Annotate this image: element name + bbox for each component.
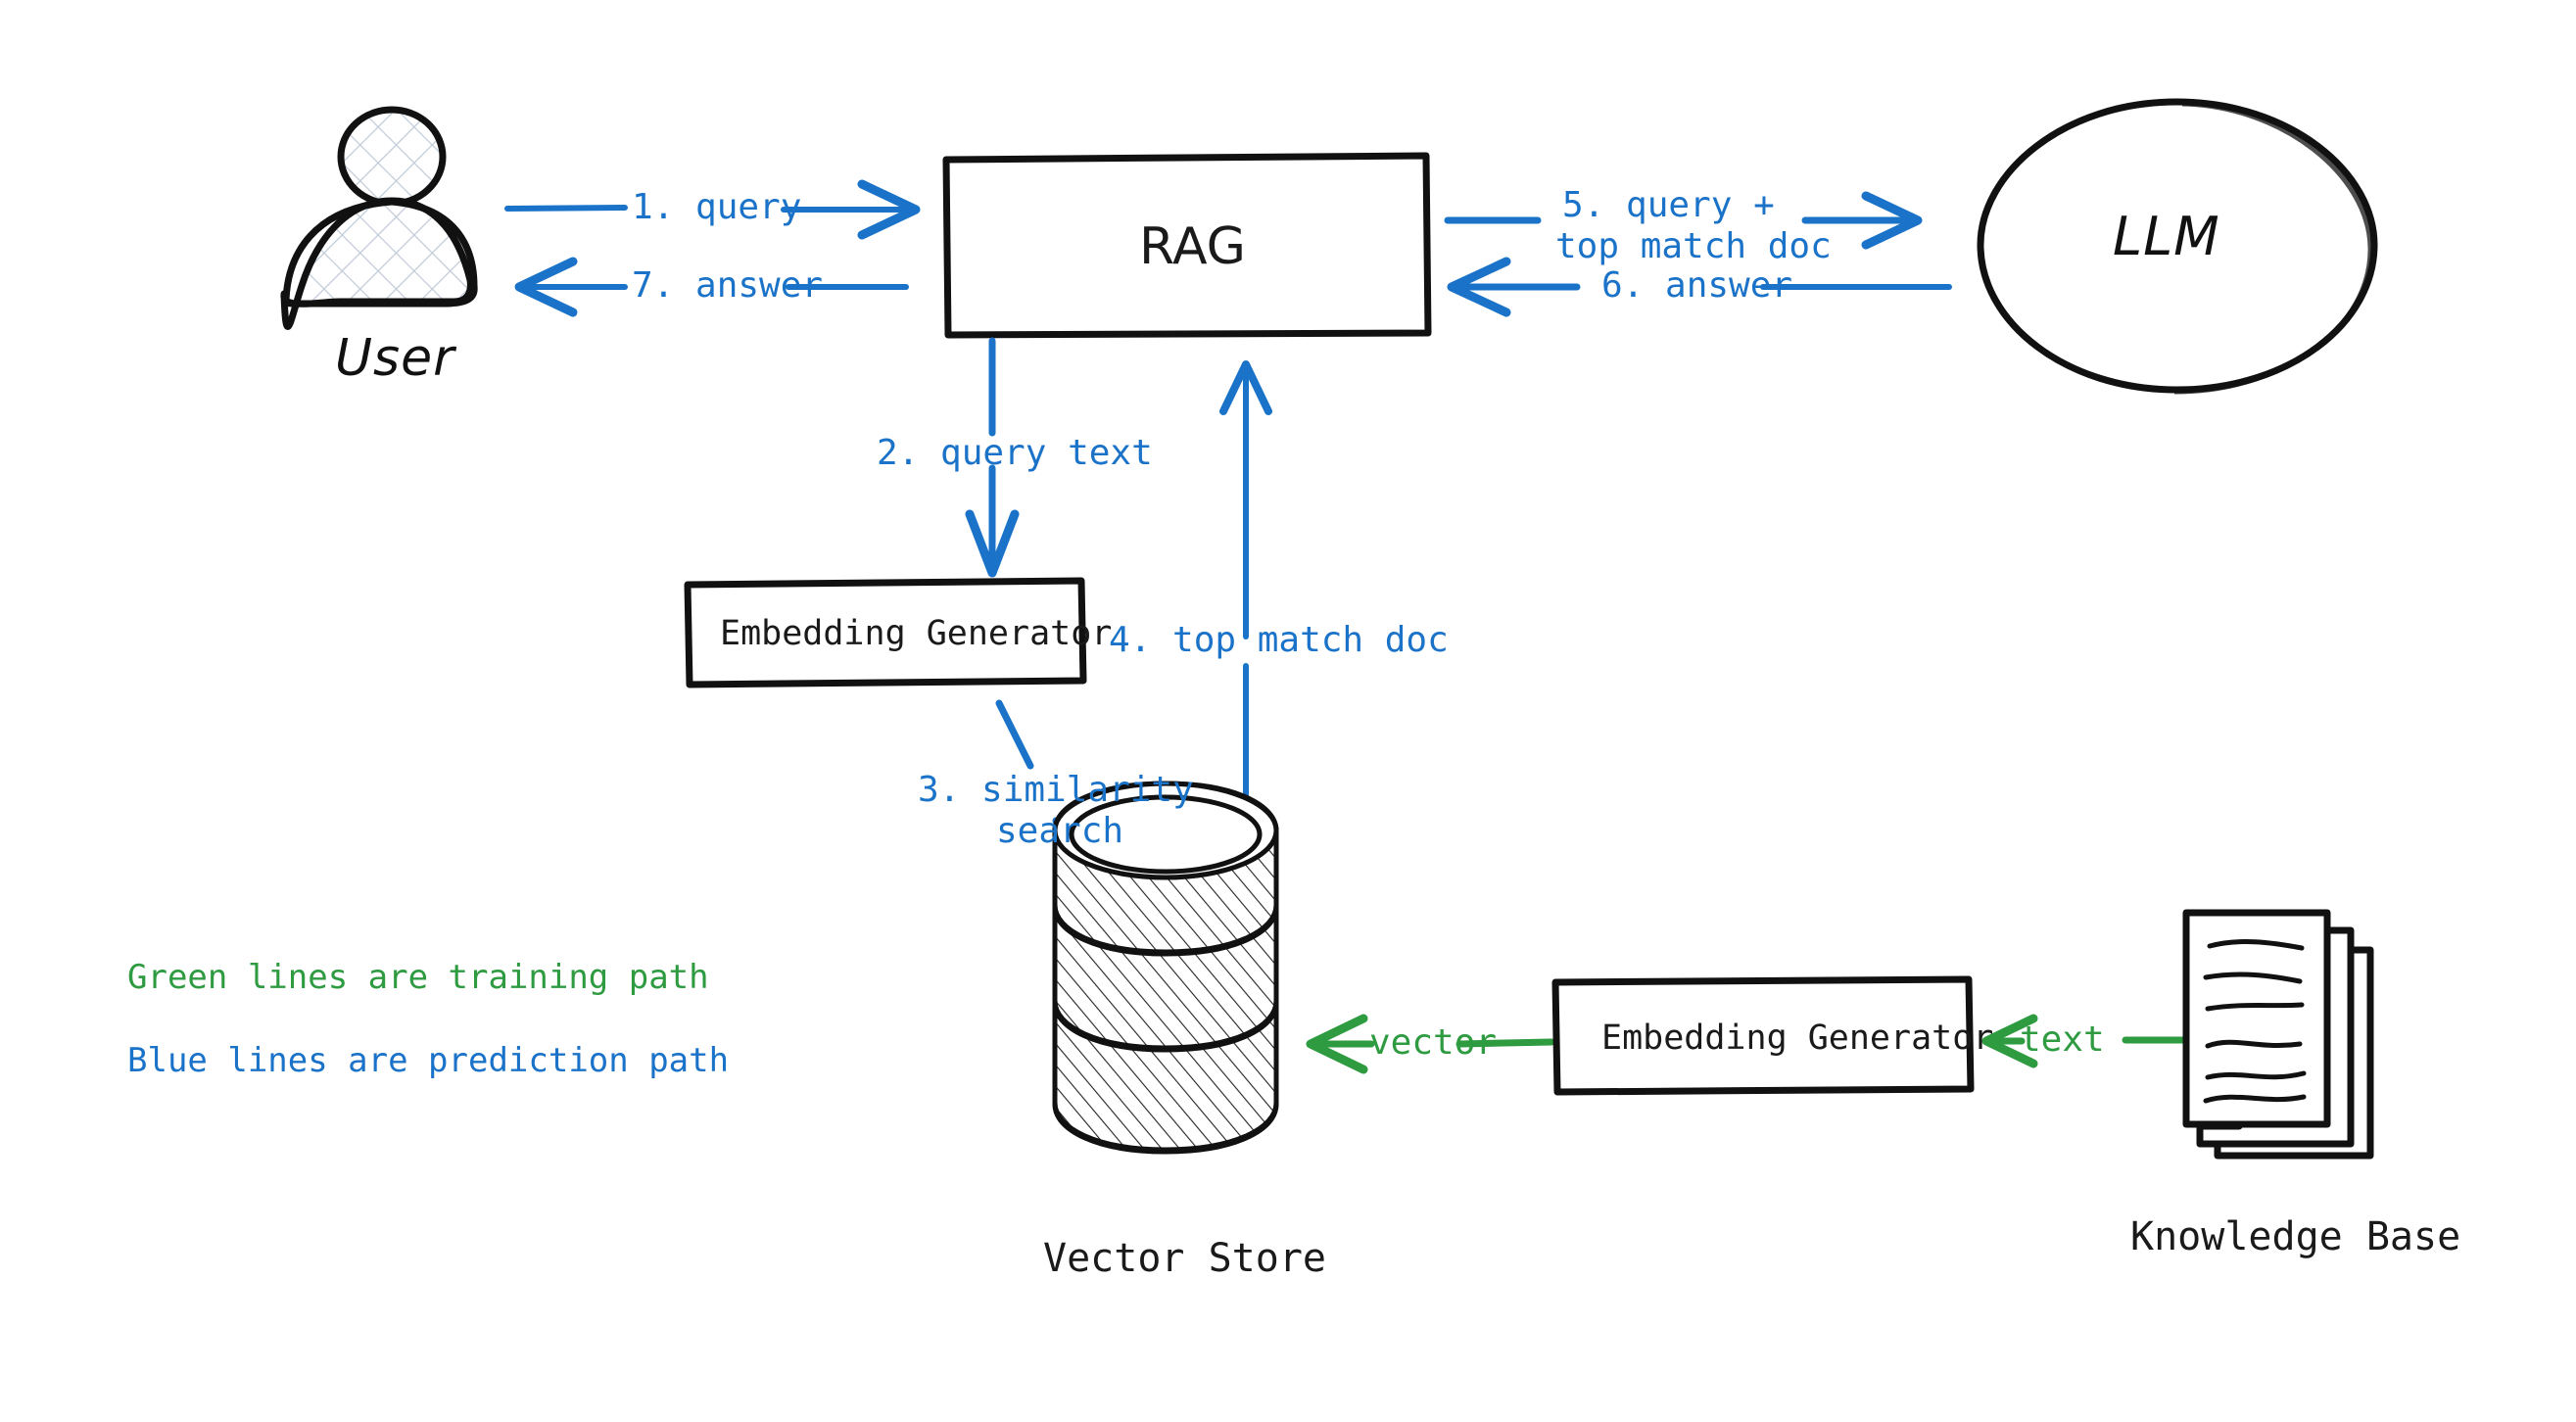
edge-label-text: text xyxy=(2020,1019,2105,1061)
legend-item-prediction: Blue lines are prediction path xyxy=(127,1041,729,1080)
edge-label-6-answer: 6. answer xyxy=(1601,264,1792,307)
diagram-canvas: User RAG LLM Embedding Generator Embeddi… xyxy=(0,0,2576,1422)
edge-label-2-query-text: 2. query text xyxy=(877,432,1153,474)
embedding-generator-kb-label: Embedding Generator xyxy=(1601,1019,1993,1058)
user-label: User xyxy=(335,329,455,388)
edge-label-3-similarity-search-line1: 3. similarity xyxy=(918,769,1194,811)
rag-label: RAG xyxy=(1139,217,1246,276)
edge-label-1-query: 1. query xyxy=(632,186,801,228)
legend-item-training: Green lines are training path xyxy=(127,958,709,997)
edge-label-7-answer: 7. answer xyxy=(632,264,823,307)
edge-label-5-query-plus-line1: 5. query + xyxy=(1562,184,1775,226)
knowledge-base-icon[interactable] xyxy=(2186,913,2370,1156)
embedding-generator-query-label: Embedding Generator xyxy=(720,614,1112,653)
edge-label-3-similarity-search-line2: search xyxy=(996,810,1123,852)
edge-label-5-top-match-doc-line2: top match doc xyxy=(1555,225,1832,267)
user-icon xyxy=(284,110,474,326)
edge-label-vector: vector xyxy=(1369,1021,1497,1064)
edge-label-4-top-match-doc: 4. top match doc xyxy=(1109,619,1449,661)
vector-store-label: Vector Store xyxy=(1043,1236,1326,1281)
llm-label: LLM xyxy=(2113,206,2220,267)
knowledge-base-label: Knowledge Base xyxy=(2130,1214,2460,1259)
